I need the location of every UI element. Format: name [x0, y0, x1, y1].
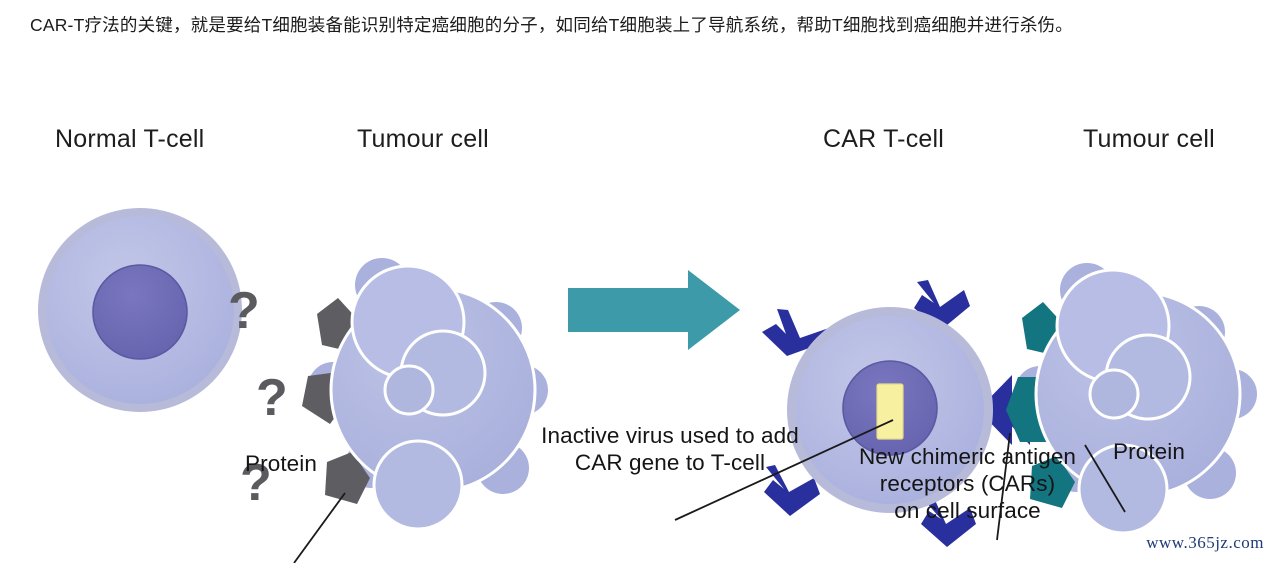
- car-gene-insert: [877, 384, 903, 439]
- label-protein-left: Protein: [245, 450, 317, 477]
- label-inactive-virus-line2: CAR gene to T-cell: [505, 449, 835, 476]
- tumour-right-lobe-3: [1090, 370, 1138, 418]
- tumour-left-lobe-4: [374, 441, 462, 529]
- tumour-left-lobe-3: [385, 366, 433, 414]
- label-new-cars-line1: New chimeric antigen: [845, 443, 1090, 470]
- question-mark-1: ?: [228, 282, 260, 340]
- tumour-cell-left-group: [302, 258, 548, 529]
- question-mark-2: ?: [256, 369, 288, 427]
- label-inactive-virus-line1: Inactive virus used to add: [505, 422, 835, 449]
- transformation-arrow: [568, 270, 740, 350]
- site-watermark: www.365jz.com: [1146, 533, 1264, 553]
- question-mark-group: ? ? ?: [228, 282, 288, 512]
- label-protein-right: Protein: [1113, 438, 1185, 465]
- protein-left-leader-line: [294, 493, 345, 563]
- normal-tcell-group: [38, 208, 242, 412]
- intro-paragraph: CAR-T疗法的关键，就是要给T细胞装备能识别特定癌细胞的分子，如同给T细胞装上…: [30, 10, 1255, 40]
- label-new-cars: New chimeric antigen receptors (CARs) on…: [845, 443, 1090, 524]
- label-new-cars-line3: on cell surface: [845, 497, 1090, 524]
- normal-tcell-nucleus: [93, 265, 187, 359]
- label-inactive-virus: Inactive virus used to add CAR gene to T…: [505, 422, 835, 476]
- screenshot-root: CAR-T疗法的关键，就是要给T细胞装备能识别特定癌细胞的分子，如同给T细胞装上…: [0, 0, 1280, 563]
- car-t-diagram: Normal T-cell Tumour cell CAR T-cell Tum…: [0, 100, 1280, 563]
- label-new-cars-line2: receptors (CARs): [845, 470, 1090, 497]
